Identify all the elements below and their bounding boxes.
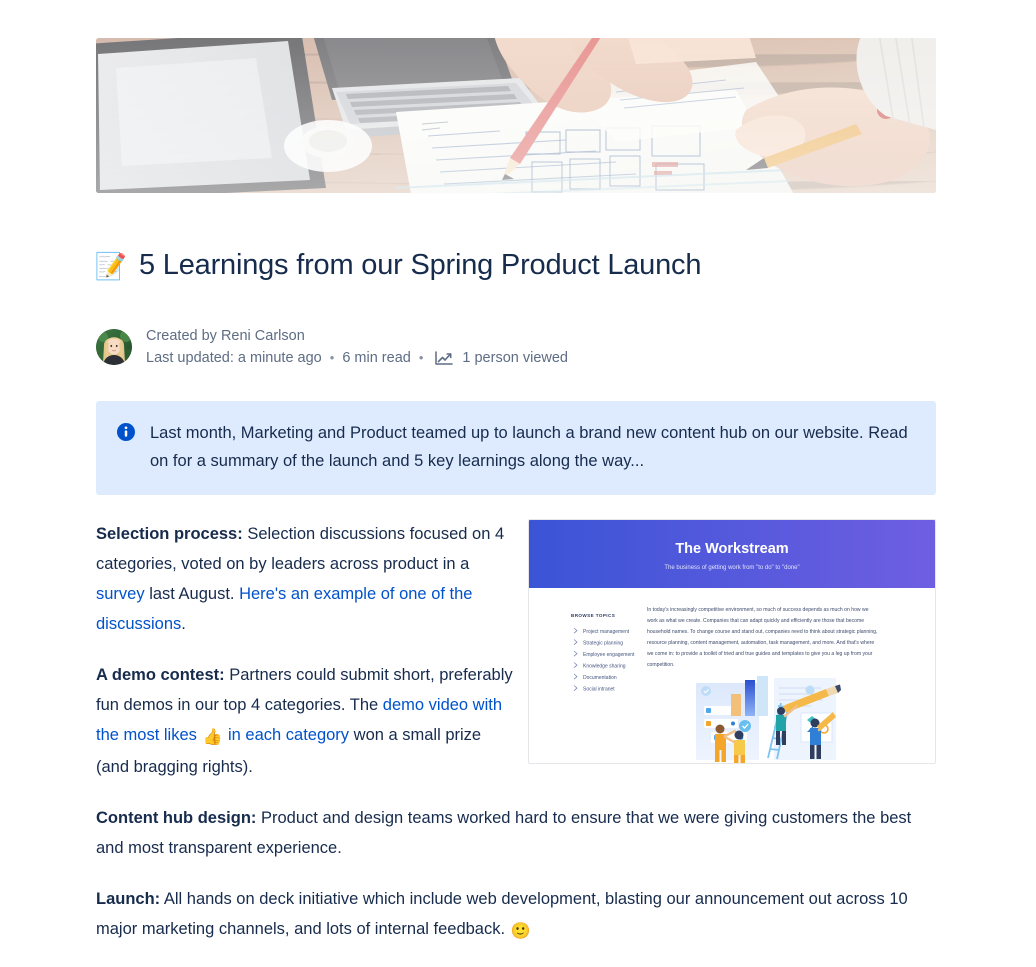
page-title-row: 📝 5 Learnings from our Spring Product La… — [96, 229, 936, 303]
heading-launch: Launch: — [96, 890, 160, 908]
meta-separator-2: • — [417, 348, 426, 368]
demo-video-link-part-b[interactable]: in each category — [223, 726, 349, 744]
svg-text:Project management: Project management — [583, 629, 630, 635]
embed-banner-subtitle: The business of getting work from "to do… — [664, 565, 799, 571]
cover-image-photo — [96, 38, 936, 193]
paragraph-content-hub-design: Content hub design: Product and design t… — [96, 803, 926, 863]
svg-text:competition.: competition. — [647, 662, 674, 668]
info-panel-line-1: Last month, Marketing and Product teamed… — [150, 424, 864, 442]
paragraph-selection-process: Selection process: Selection discussions… — [96, 519, 516, 639]
embed-banner-title: The Workstream — [675, 541, 788, 557]
heading-demo-contest: A demo contest: — [96, 666, 225, 684]
info-circle-icon — [116, 422, 136, 447]
svg-text:work as what we create. Compan: work as what we create. Companies that c… — [647, 618, 864, 624]
last-updated-label: Last updated: a minute ago — [146, 347, 322, 369]
page-title: 5 Learnings from our Spring Product Laun… — [139, 248, 701, 283]
info-panel-text: Last month, Marketing and Product teamed… — [150, 419, 916, 475]
views-label: 1 person viewed — [462, 347, 568, 369]
paragraph-demo-contest: A demo contest: Partners could submit sh… — [96, 660, 516, 782]
slightly-smiling-face-emoji: 🙂 — [510, 923, 532, 940]
paragraph-launch: Launch: All hands on deck initiative whi… — [96, 884, 926, 946]
embed-sidebar-heading: BROWSE TOPICS — [571, 613, 615, 618]
memo-emoji: 📝 — [96, 251, 126, 281]
embedded-screenshot-image: The Workstream The business of getting w… — [529, 520, 935, 763]
byline-text: Created by Reni Carlson Last updated: a … — [146, 325, 568, 370]
svg-text:we come in: to provide a toolk: we come in: to provide a toolkit of trie… — [647, 651, 873, 657]
trend-chart-icon[interactable] — [435, 351, 453, 366]
byline-created: Created by Reni Carlson — [146, 325, 568, 347]
survey-link[interactable]: survey — [96, 585, 145, 603]
avatar[interactable] — [96, 329, 132, 365]
info-circle-icon-glyph — [116, 422, 136, 442]
meta-separator-1: • — [328, 348, 337, 368]
selection-text-c: . — [181, 615, 186, 633]
trend-chart-icon-glyph — [435, 351, 453, 366]
heading-content-hub-design: Content hub design: — [96, 809, 256, 827]
body-wrap: The Workstream The business of getting w… — [96, 519, 936, 946]
left-column: Selection process: Selection discussions… — [96, 519, 516, 782]
svg-text:Knowledge sharing: Knowledge sharing — [583, 663, 626, 669]
embedded-screenshot-card[interactable]: The Workstream The business of getting w… — [528, 519, 936, 764]
svg-text:Documentation: Documentation — [583, 675, 617, 681]
heading-selection-process: Selection process: — [96, 525, 243, 543]
read-time-label: 6 min read — [342, 347, 411, 369]
avatar-photo — [96, 329, 132, 365]
byline-meta: Last updated: a minute ago • 6 min read … — [146, 347, 568, 369]
byline: Created by Reni Carlson Last updated: a … — [96, 325, 936, 370]
page-content: 📝 5 Learnings from our Spring Product La… — [96, 0, 936, 967]
svg-text:Strategic planning: Strategic planning — [583, 640, 623, 646]
created-by-label: Created by Reni Carlson — [146, 325, 305, 347]
cover-image — [96, 38, 936, 193]
selection-text-b: last August. — [145, 585, 239, 603]
thumbs-up-emoji: 👍 — [201, 729, 223, 746]
svg-text:In today's increasingly compet: In today's increasingly competitive envi… — [647, 607, 869, 613]
svg-text:Social intranet: Social intranet — [583, 686, 615, 692]
document-page: 📝 5 Learnings from our Spring Product La… — [0, 0, 1036, 877]
svg-text:resource planning, content man: resource planning, content management, a… — [647, 640, 874, 646]
launch-text: All hands on deck initiative which inclu… — [96, 890, 908, 938]
info-panel: Last month, Marketing and Product teamed… — [96, 401, 936, 495]
svg-text:household names. To change cou: household names. To change course and st… — [647, 629, 877, 635]
svg-text:Employee engagement: Employee engagement — [583, 652, 635, 658]
